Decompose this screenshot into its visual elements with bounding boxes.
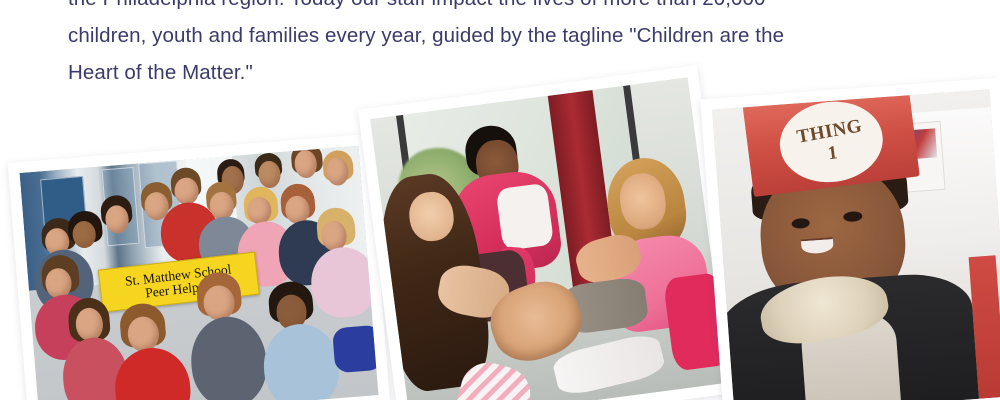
- collage-photo-school-group: St. Matthew School Peer Helpers: [8, 134, 391, 400]
- hat-text-line-1: THING: [796, 116, 864, 146]
- hat-text-line-2: 1: [827, 143, 839, 163]
- student-blue-hoodie: [260, 321, 341, 400]
- collage-photo-team-hands: [358, 65, 740, 400]
- photo-scene-school-group: St. Matthew School Peer Helpers: [20, 146, 379, 400]
- student-sneaker: [332, 325, 378, 374]
- child-eye-right: [843, 211, 862, 223]
- page-root: the Philadelphia region. Today our staff…: [0, 0, 1000, 400]
- woman-white-top: [496, 183, 555, 251]
- child-smile: [801, 237, 834, 255]
- student-gray-hoodie: [188, 314, 270, 400]
- child-eye-left: [791, 218, 810, 230]
- collage-photo-thing-one-child: THING 1: [700, 77, 1000, 400]
- photo-scene-thing-one-child: THING 1: [712, 89, 1000, 400]
- photo-frame: St. Matthew School Peer Helpers: [20, 146, 379, 400]
- photo-scene-team-hands: [370, 77, 727, 400]
- hat-emblem: THING 1: [775, 96, 888, 188]
- photo-collage: St. Matthew School Peer Helpers: [0, 0, 1000, 400]
- photo-frame: [370, 77, 727, 400]
- student-red-tshirt: [112, 345, 193, 400]
- photo-frame: THING 1: [712, 89, 1000, 400]
